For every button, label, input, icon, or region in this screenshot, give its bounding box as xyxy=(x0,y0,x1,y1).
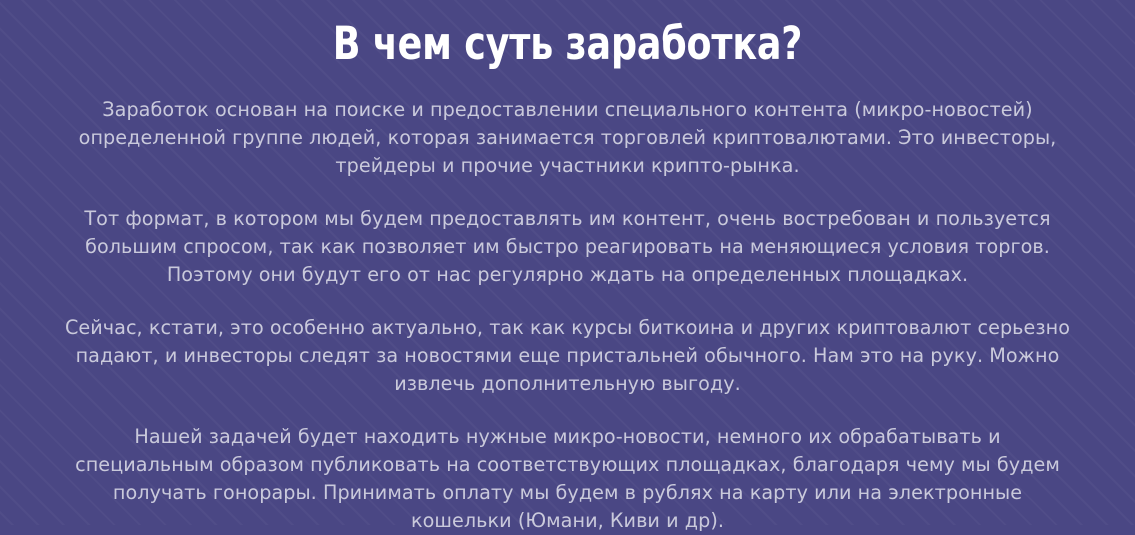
body-paragraph-1: Заработок основан на поиске и предоставл… xyxy=(65,96,1071,180)
body-paragraph-4: Нашей задачей будет находить нужные микр… xyxy=(65,423,1071,535)
slide-body-text: Заработок основан на поиске и предоставл… xyxy=(65,96,1071,535)
page-title: В чем суть заработка? xyxy=(57,18,1079,70)
body-paragraph-2: Тот формат, в котором мы будем предостав… xyxy=(65,205,1071,289)
body-paragraph-3: Сейчас, кстати, это особенно актуально, … xyxy=(65,314,1071,398)
presentation-slide: В чем суть заработка? Заработок основан … xyxy=(0,0,1135,525)
